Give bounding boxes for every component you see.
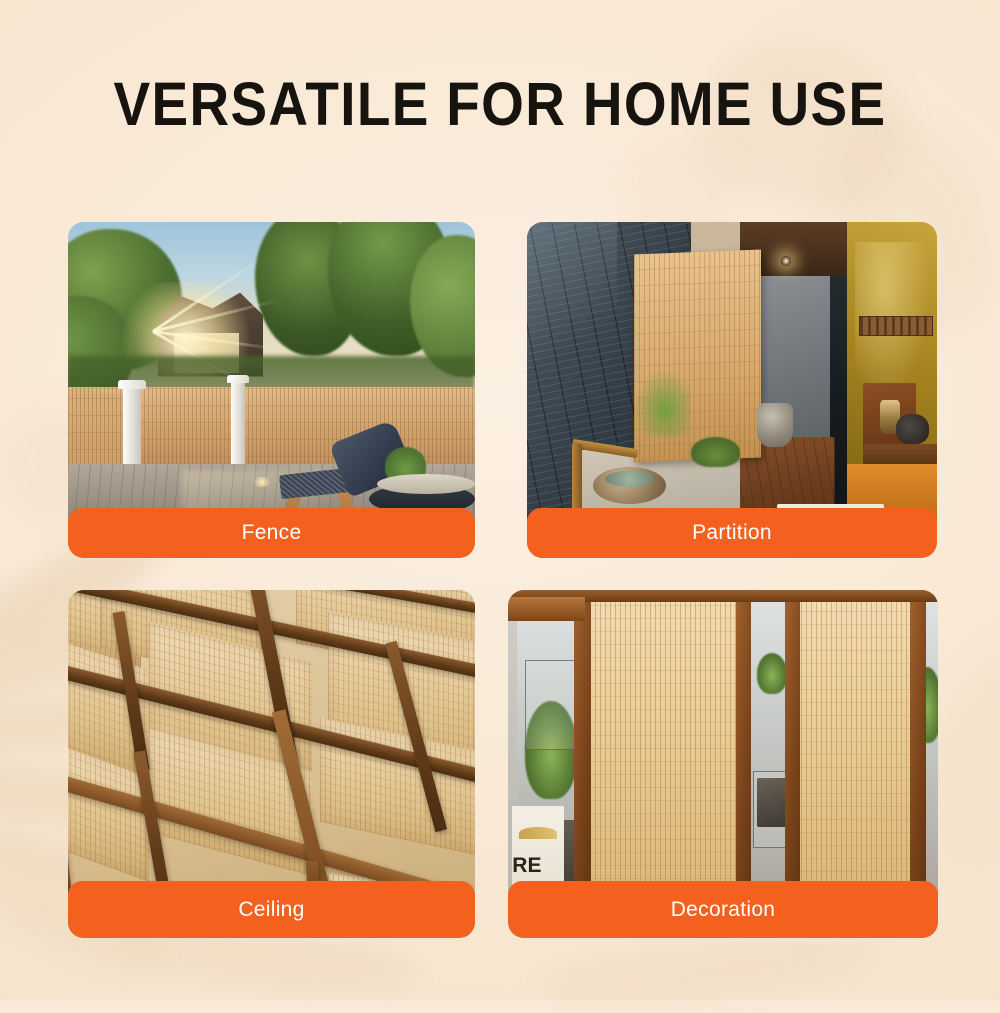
ceiling-light-icon bbox=[781, 256, 791, 266]
use-case-grid: Fence bbox=[0, 0, 1000, 1000]
plant-icon bbox=[757, 653, 787, 695]
side-table-top bbox=[377, 474, 475, 494]
card-caption-partition: Partition bbox=[527, 508, 937, 558]
card-caption-decoration: Decoration bbox=[508, 881, 938, 938]
outdoor-chair bbox=[757, 778, 787, 827]
sign-text-line1: RE bbox=[512, 854, 551, 878]
sign-emblem-icon bbox=[519, 827, 558, 839]
iron-kettle bbox=[896, 414, 929, 444]
reed-roller-screen bbox=[796, 600, 916, 924]
wall-shelf bbox=[859, 316, 933, 336]
card-caption-ceiling: Ceiling bbox=[68, 881, 475, 938]
balcony-railing bbox=[525, 660, 581, 750]
use-case-card-fence[interactable]: Fence bbox=[68, 222, 475, 558]
use-case-card-decoration[interactable]: RE ES Decoration bbox=[508, 590, 938, 938]
use-case-card-ceiling[interactable]: Ceiling bbox=[68, 590, 475, 938]
stone-basin bbox=[757, 403, 794, 447]
fence-post-cap bbox=[227, 375, 249, 383]
ceiling-trim bbox=[508, 597, 585, 621]
brick-wall-highlight bbox=[527, 222, 617, 383]
bonsai-tree-icon bbox=[634, 370, 691, 437]
use-case-card-partition[interactable]: Partition bbox=[527, 222, 937, 558]
moss-grass bbox=[691, 437, 740, 467]
fence-post-cap bbox=[118, 380, 146, 389]
card-caption-fence: Fence bbox=[68, 508, 475, 558]
